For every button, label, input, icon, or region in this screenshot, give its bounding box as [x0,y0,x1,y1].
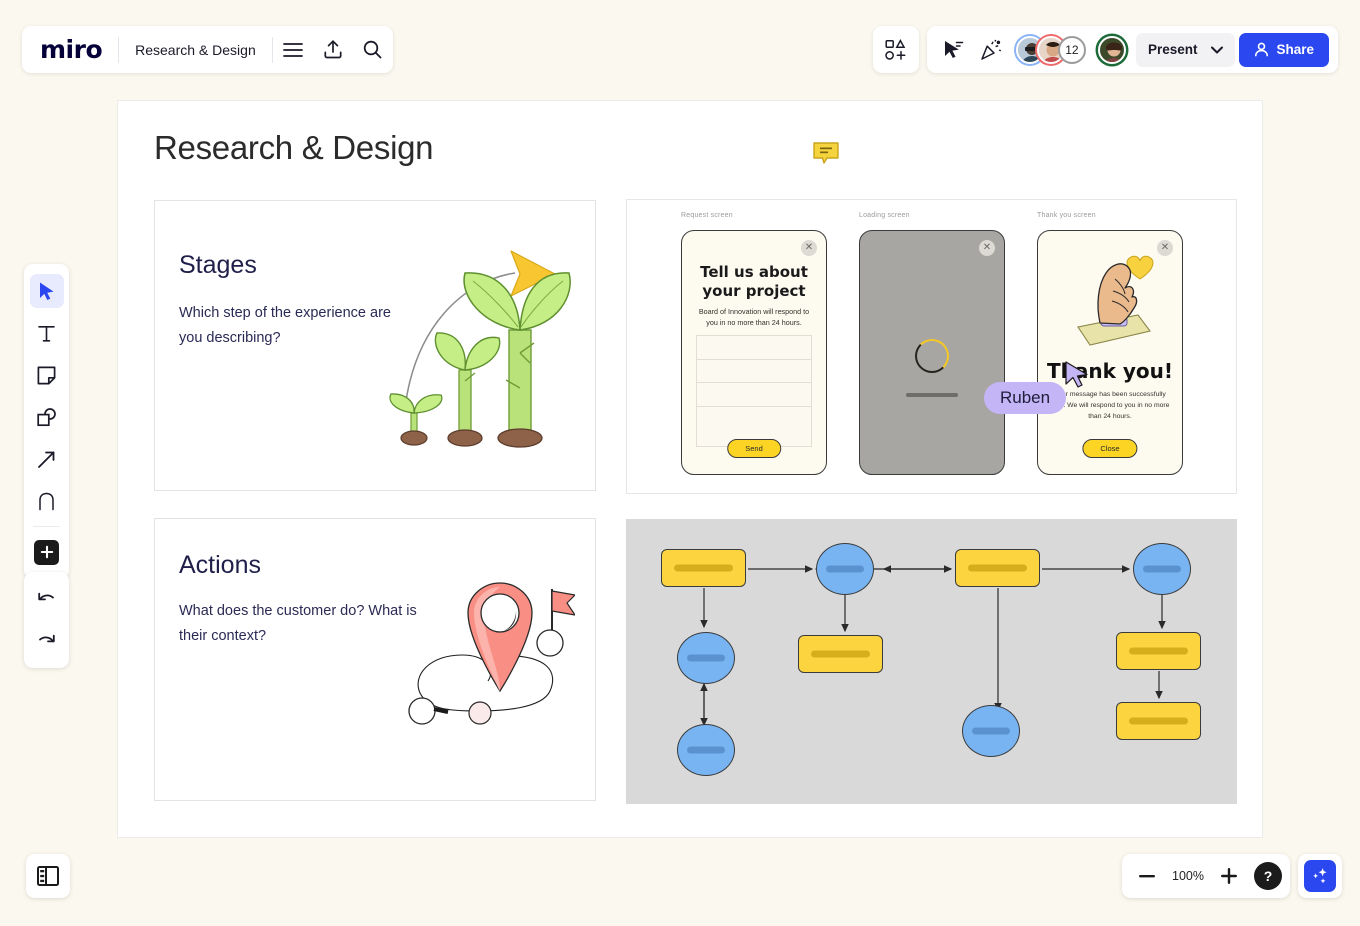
placeholder-bar [1129,718,1188,725]
miro-board-app: Research & Design Stages Which step of t… [0,0,1360,926]
undo-button[interactable] [24,578,69,620]
zoom-controls: 100% ? [1122,854,1290,898]
upload-icon[interactable] [313,26,353,73]
help-button[interactable]: ? [1254,862,1282,890]
person-icon [1254,42,1269,57]
flow-node-ellipse[interactable] [1133,543,1191,595]
zoom-in-button[interactable] [1212,859,1246,893]
flow-node-ellipse[interactable] [677,632,735,684]
cursor-icon [30,274,64,308]
zoom-level-label[interactable]: 100% [1166,869,1210,883]
close-x-icon[interactable]: ✕ [979,240,995,256]
placeholder-bar [1143,566,1181,573]
topbar-left: miro Research & Design [22,26,393,73]
card-actions[interactable]: Actions What does the customer do? What … [154,518,596,801]
mockup-loading-screen[interactable]: ✕ [859,230,1005,475]
zoom-out-button[interactable] [1130,859,1164,893]
topbar-right: 12 Present Share [873,26,1338,73]
arrow-tool[interactable] [24,438,69,480]
tool-rail [24,264,69,579]
close-button[interactable]: Close [1082,439,1137,458]
close-x-icon[interactable]: ✕ [801,240,817,256]
card-stages-heading: Stages [179,251,257,280]
remote-cursor-name: Ruben [984,382,1066,414]
placeholder-bar [968,565,1027,572]
flow-node-ellipse[interactable] [962,705,1020,757]
share-label: Share [1276,42,1314,57]
screen-label-thankyou: Thank you screen [1037,212,1096,219]
placeholder-bar [687,747,725,754]
present-button[interactable]: Present [1136,33,1236,67]
board-canvas[interactable]: Research & Design Stages Which step of t… [0,0,1360,926]
cursor-pointer-icon [1064,360,1090,388]
sticky-tool[interactable] [24,354,69,396]
avatar-overflow-count[interactable]: 12 [1058,36,1086,64]
placeholder-bar [972,728,1010,735]
ai-assist-button[interactable] [1298,854,1342,898]
location-pin-route-illustration [400,581,575,741]
miro-logo[interactable]: miro [22,35,118,64]
placeholder-bar [674,565,733,572]
card-stages[interactable]: Stages Which step of the experience are … [154,200,596,491]
loading-spinner-icon [915,339,949,373]
history-rail [24,572,69,668]
search-icon[interactable] [353,26,393,73]
placeholder-bar [826,566,864,573]
loading-placeholder-bar [906,393,958,397]
sidebar-panel-toggle[interactable] [26,854,70,898]
more-apps-tool[interactable] [24,531,69,573]
thankyou-body: Your message has been successfully sent.… [1049,389,1171,422]
shapes-tool[interactable] [24,396,69,438]
panel-mockup-screens[interactable]: Request screen ✕ Tell us about your proj… [626,199,1237,494]
screen-label-request: Request screen [681,212,733,219]
panel-flowchart[interactable] [626,519,1237,804]
pen-curve-icon [30,484,64,518]
party-popper-icon[interactable] [974,33,1008,67]
growing-plants-illustration [387,233,582,448]
undo-icon [30,582,64,616]
templates-group [873,26,919,73]
hand-heart-illustration [1068,245,1160,350]
chevron-down-icon [1211,46,1223,54]
placeholder-bar [811,651,870,658]
sticky-note-icon [30,358,64,392]
request-screen-title: Tell us about your project [682,263,826,301]
share-button[interactable]: Share [1239,33,1329,67]
redo-button[interactable] [24,620,69,662]
collab-group: 12 Present Share [927,26,1338,73]
flow-node-ellipse[interactable] [816,543,874,595]
sidebar-panel-icon [37,866,59,886]
present-label: Present [1148,42,1198,57]
card-stages-body: Which step of the experience are you des… [179,301,394,351]
mockup-request-screen[interactable]: ✕ Tell us about your project Board of In… [681,230,827,475]
screen-label-loading: Loading screen [859,212,910,219]
placeholder-bar [687,655,725,662]
frame-title: Research & Design [154,129,433,167]
cursor-share-icon[interactable] [936,33,970,67]
text-tool[interactable] [24,312,69,354]
card-actions-body: What does the customer do? What is their… [179,599,429,649]
board-name-label[interactable]: Research & Design [119,42,272,58]
placeholder-bar [1129,648,1188,655]
divider [33,526,60,527]
pen-tool[interactable] [24,480,69,522]
comment-bubble-icon[interactable] [812,141,840,165]
flow-node-rect[interactable] [1116,702,1201,740]
send-button[interactable]: Send [727,439,781,458]
remote-collaborator-cursor: Ruben [1064,360,1090,388]
request-screen-subtitle: Board of Innovation will respond to you … [694,306,814,328]
thankyou-title: Thank you! [1038,359,1182,383]
flow-node-rect[interactable] [1116,632,1201,670]
sparkles-icon [1304,860,1336,892]
request-form-fields[interactable] [696,335,812,430]
flow-node-ellipse[interactable] [677,724,735,776]
card-actions-heading: Actions [179,551,261,580]
flow-node-rect[interactable] [798,635,883,673]
plus-square-icon [34,540,59,565]
mockup-thankyou-screen[interactable]: ✕ Thank you! Your message h [1037,230,1183,475]
flow-node-rect[interactable] [661,549,746,587]
hamburger-menu-icon[interactable] [273,26,313,73]
flow-node-rect[interactable] [955,549,1040,587]
select-tool[interactable] [24,270,69,312]
shapes-icon [30,400,64,434]
collaborator-avatars[interactable]: 12 [1016,36,1126,64]
arrow-icon [30,442,64,476]
board-frame[interactable]: Research & Design Stages Which step of t… [117,100,1263,838]
text-t-icon [30,316,64,350]
redo-icon [30,624,64,658]
avatar-current-user[interactable] [1098,36,1126,64]
shapes-plus-icon[interactable] [879,33,913,67]
